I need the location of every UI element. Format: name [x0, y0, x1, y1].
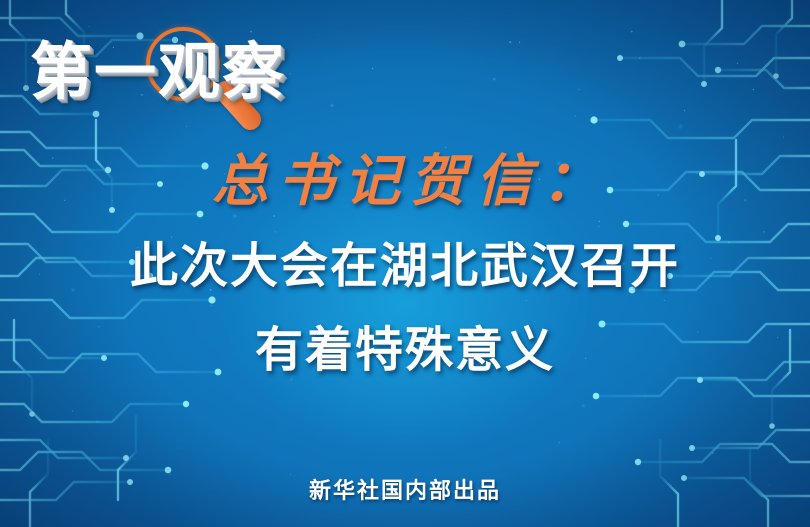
headline-white-line-2: 有着特殊意义	[0, 324, 810, 376]
brand-logo: 第一观察	[30, 22, 330, 132]
headline-block: 总书记贺信： 此次大会在湖北武汉召开 有着特殊意义	[0, 150, 810, 376]
footer-credit: 新华社国内部出品	[0, 473, 810, 505]
brand-logo-text: 第一观察	[30, 40, 286, 104]
poster-canvas: 第一观察 总书记贺信： 此次大会在湖北武汉召开 有着特殊意义 新华社国内部出品	[0, 0, 810, 527]
headline-white-line-1: 此次大会在湖北武汉召开	[0, 240, 810, 292]
headline-orange-title: 总书记贺信：	[0, 150, 810, 212]
